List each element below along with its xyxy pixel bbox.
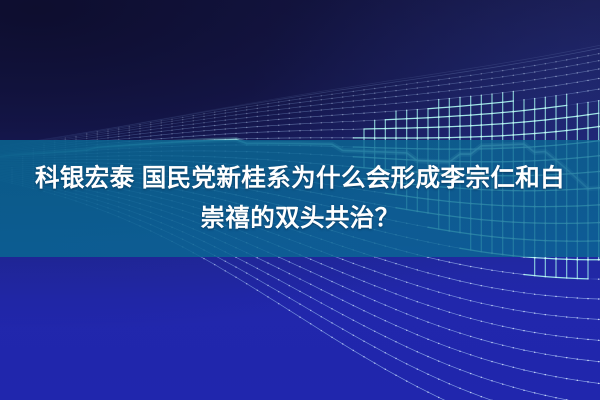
banner-image: 科银宏泰 国民党新桂系为什么会形成李宗仁和白 崇禧的双头共治？	[0, 0, 600, 400]
headline-text-block: 科银宏泰 国民党新桂系为什么会形成李宗仁和白 崇禧的双头共治？	[0, 140, 600, 257]
headline-line-1: 科银宏泰 国民党新桂系为什么会形成李宗仁和白	[35, 159, 565, 199]
headline-line-2: 崇禧的双头共治？	[200, 199, 399, 239]
